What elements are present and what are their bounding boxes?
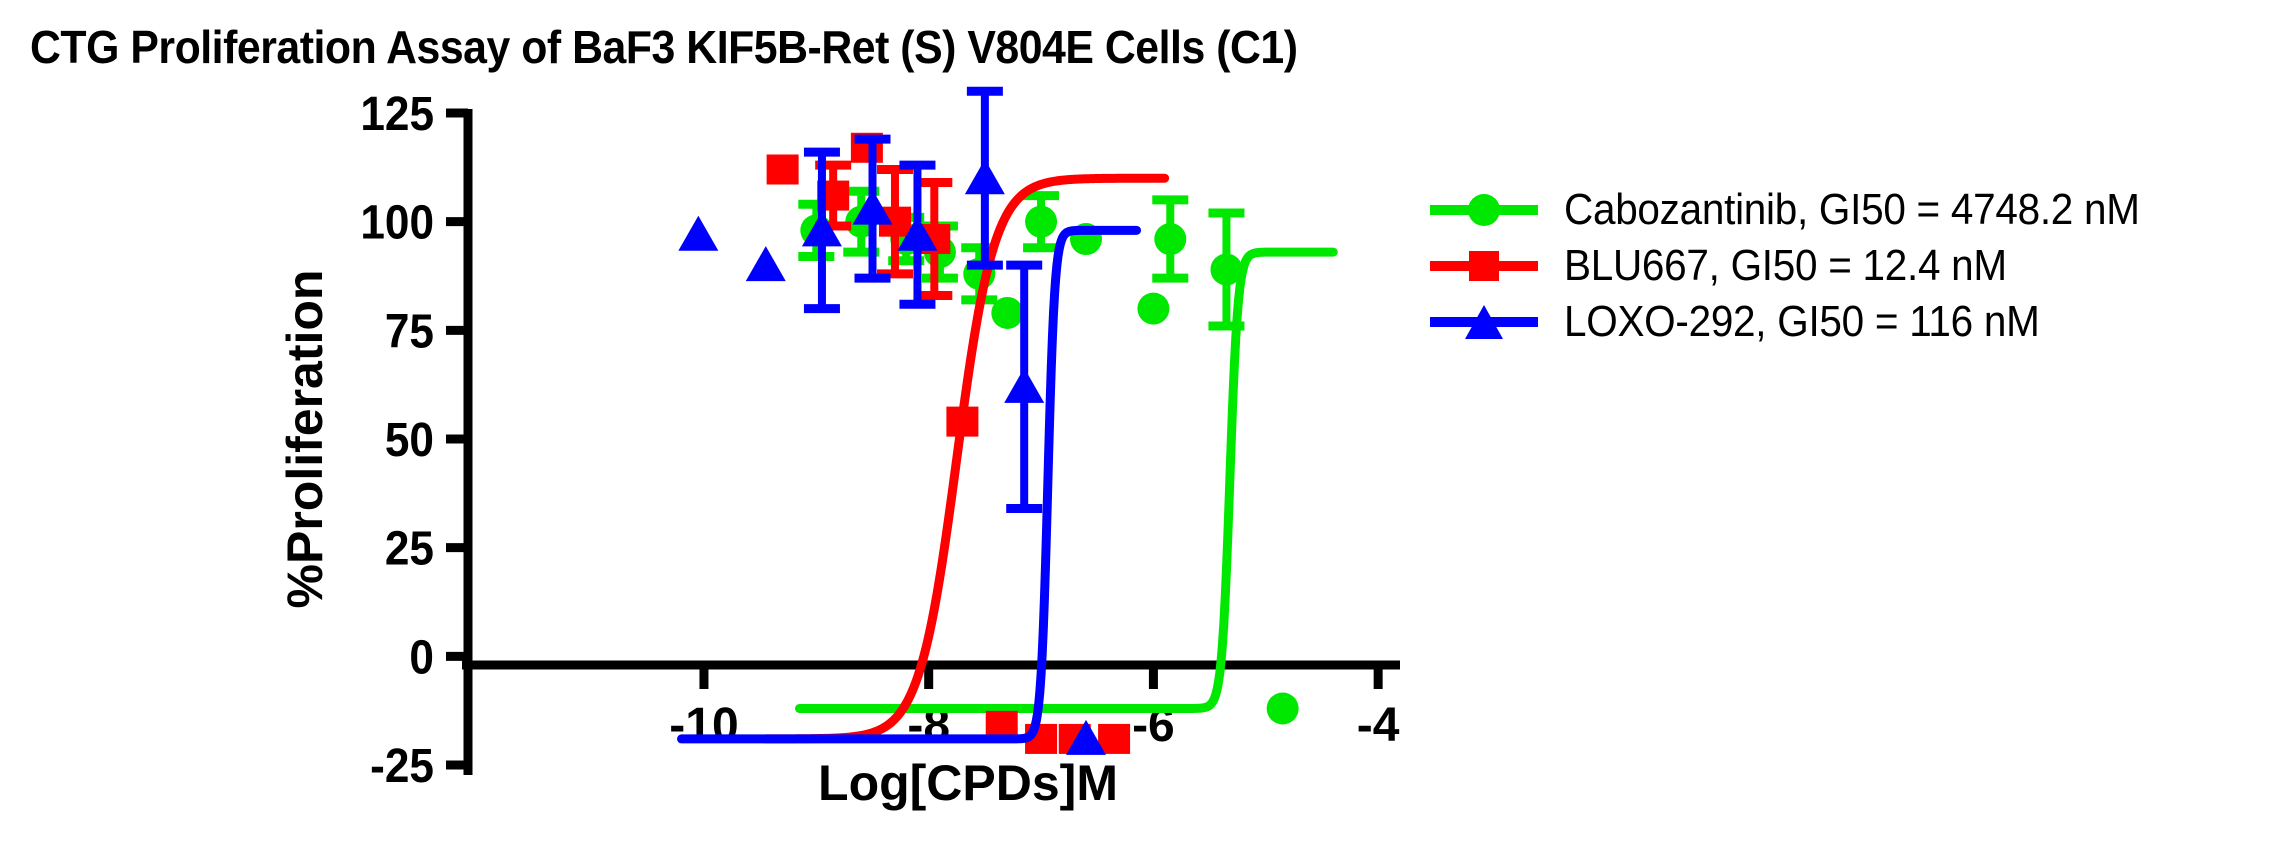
data-point-triangle xyxy=(1004,368,1044,403)
y-tick-label: 0 xyxy=(409,630,434,684)
data-point-circle xyxy=(1210,253,1242,285)
data-point-circle xyxy=(1025,206,1057,238)
series-curve-0 xyxy=(799,252,1333,708)
data-point-circle xyxy=(1267,692,1299,724)
y-axis-title: %Proliferation xyxy=(277,270,333,609)
data-point-circle xyxy=(991,297,1023,329)
x-axis-title: Log[CPDs]M xyxy=(818,755,1118,811)
data-point-triangle xyxy=(965,159,1005,194)
y-tick-label: 100 xyxy=(360,195,434,249)
legend-key-circle-icon xyxy=(1430,190,1538,230)
x-tick-label: -10 xyxy=(669,699,738,752)
data-point-circle xyxy=(1137,293,1169,325)
data-point-square xyxy=(767,155,799,185)
legend-item-2[interactable]: LOXO-292, GI50 = 116 nM xyxy=(1430,300,2081,344)
y-tick-label: 125 xyxy=(360,86,434,140)
data-point-square xyxy=(946,407,978,437)
legend-key-triangle-icon xyxy=(1430,302,1538,342)
chart-plot-area: -250255075100125-10-8-6-4Log[CPDs]M%Prol… xyxy=(0,0,2282,852)
data-point-square xyxy=(1098,724,1130,754)
legend-key-square-icon xyxy=(1430,246,1538,286)
legend-label: LOXO-292, GI50 = 116 nM xyxy=(1564,300,2040,344)
y-tick-label: 50 xyxy=(385,412,434,466)
data-point-triangle xyxy=(746,246,786,281)
x-tick-label: -4 xyxy=(1357,699,1400,752)
legend-item-0[interactable]: Cabozantinib, GI50 = 4748.2 nM xyxy=(1430,188,2190,232)
legend-item-1[interactable]: BLU667, GI50 = 12.4 nM xyxy=(1430,244,2045,288)
y-tick-label: 75 xyxy=(385,304,434,358)
y-tick-label: 25 xyxy=(385,521,434,575)
legend-label: BLU667, GI50 = 12.4 nM xyxy=(1564,244,2007,288)
y-tick-label: -25 xyxy=(370,738,434,792)
data-point-circle xyxy=(1154,223,1186,255)
legend-label: Cabozantinib, GI50 = 4748.2 nM xyxy=(1564,188,2140,232)
data-point-triangle xyxy=(678,216,718,251)
